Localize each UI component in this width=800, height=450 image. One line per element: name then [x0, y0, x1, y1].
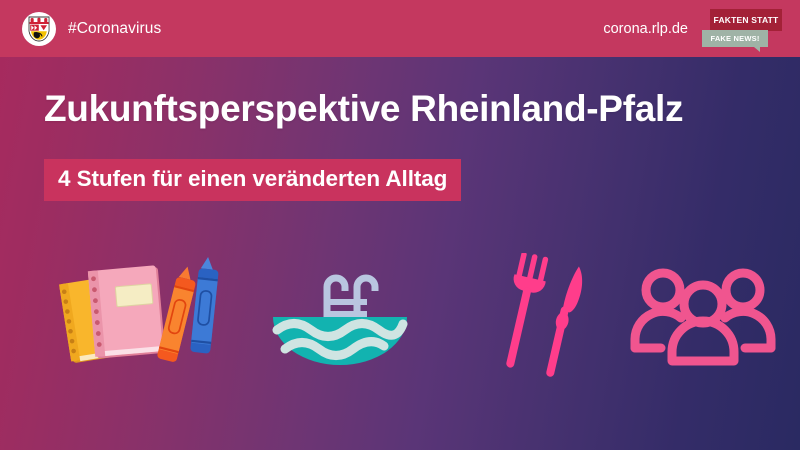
- header-right-group: corona.rlp.de FAKTEN STATT FAKE NEWS!: [603, 7, 782, 51]
- icon-cell-cutlery: [455, 250, 625, 380]
- badge-bubble-top: FAKTEN STATT: [710, 9, 782, 31]
- swimming-pool-icon: [265, 255, 415, 375]
- three-people-icon: [628, 260, 778, 370]
- icon-cell-people: [620, 250, 785, 380]
- poster-canvas: #Coronavirus corona.rlp.de FAKTEN STATT …: [0, 0, 800, 450]
- fakten-statt-fake-news-badge: FAKTEN STATT FAKE NEWS!: [702, 7, 782, 51]
- badge-bubble-bottom: FAKE NEWS!: [702, 30, 768, 47]
- page-title: Zukunftsperspektive Rheinland-Pfalz: [44, 88, 683, 130]
- subtitle-highlight-bar: 4 Stufen für einen veränderten Alltag: [44, 159, 461, 201]
- brand-group: #Coronavirus: [22, 12, 161, 46]
- page-subtitle: 4 Stufen für einen veränderten Alltag: [58, 166, 447, 192]
- header-bar: #Coronavirus corona.rlp.de FAKTEN STATT …: [0, 0, 800, 57]
- icon-cell-swimming-pool: [250, 250, 430, 380]
- site-url-label[interactable]: corona.rlp.de: [603, 21, 688, 37]
- school-supplies-icon: [50, 255, 220, 375]
- icon-row: [0, 250, 800, 380]
- hashtag-label: #Coronavirus: [68, 20, 161, 38]
- icon-cell-school-supplies: [40, 250, 230, 380]
- badge-line1-label: FAKTEN STATT: [714, 15, 779, 25]
- badge-line2-label: FAKE NEWS!: [710, 34, 759, 43]
- rhineland-palatinate-coat-of-arms-icon: [22, 12, 56, 46]
- fork-and-knife-icon: [475, 253, 605, 378]
